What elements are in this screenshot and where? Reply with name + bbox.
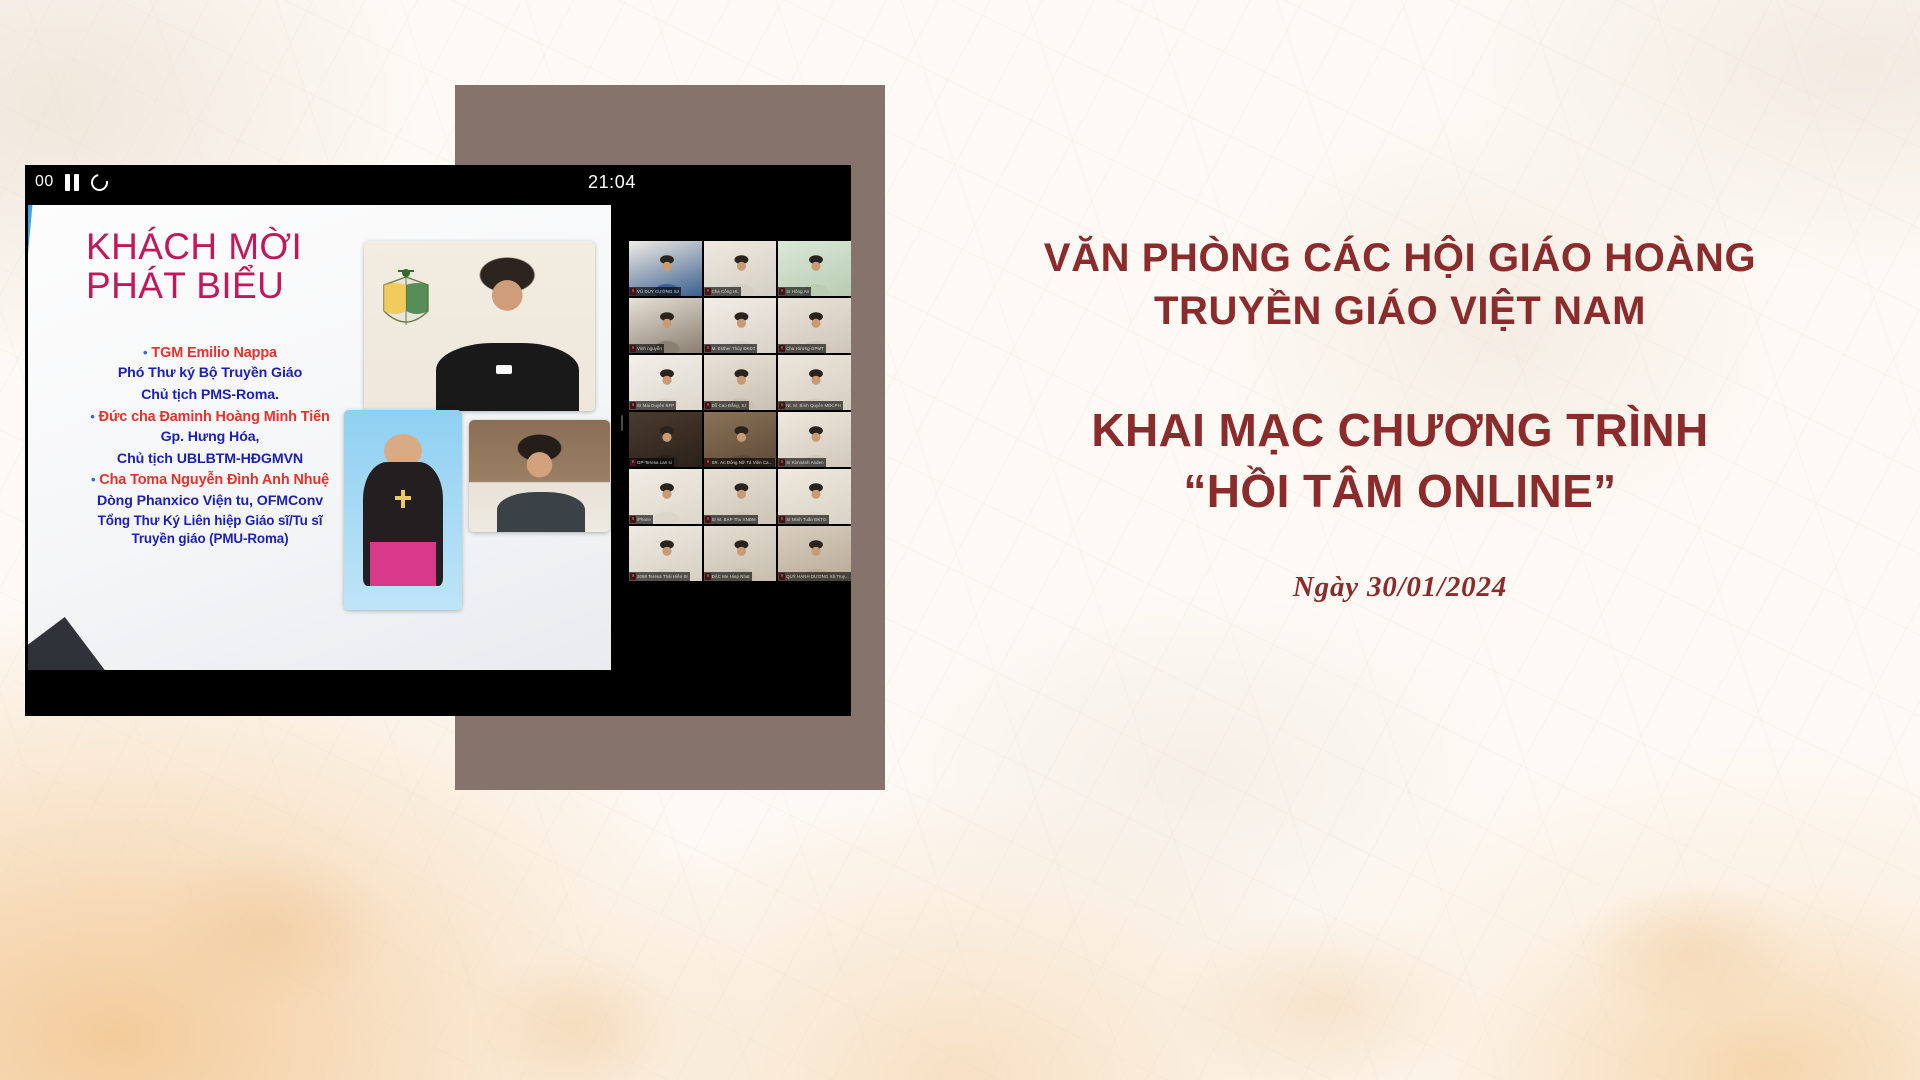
participant-row: GP-Teresa Lan siSR. An Đông Nữ Tá Viên C… — [629, 412, 851, 467]
participant-name-label: M. Esther Thủy ĐKĐT — [704, 344, 758, 353]
participant-row: VŨ DUY CƯỜNG SJCha Công HLSr Hồng An — [629, 241, 851, 296]
speaker-detail: Phó Thư ký Bộ Truyền Giáo — [66, 363, 354, 385]
participant-tile[interactable]: VŨ DUY CƯỜNG SJ — [629, 241, 702, 296]
speaker-name: • Đức cha Đaminh Hoàng Minh Tiến — [66, 407, 354, 427]
event-title-line2: “HỒI TÂM ONLINE” — [900, 461, 1900, 523]
slide-title-line1: KHÁCH MỜI — [86, 227, 346, 266]
participant-name-label: Vinh nguyễn — [629, 344, 664, 353]
speaker-detail: Truyền giáo (PMU-Roma) — [66, 530, 354, 548]
speaker-video-tile-secondary — [469, 420, 610, 532]
participant-tile[interactable]: Sr Minh Tuấn ĐKTG — [778, 469, 851, 524]
participant-tile[interactable]: ĐẶC Me Hiep Nhat — [704, 526, 777, 581]
participant-row: 2068 Teresa Thái Hiền SIĐẶC Me Hiep Nhat… — [629, 526, 851, 581]
slide-decoration-blue-stripe — [28, 205, 34, 670]
participant-tile[interactable]: Vinh nguyễn — [629, 298, 702, 353]
speaker-detail: Tổng Thư Ký Liên hiệp Giáo sĩ/Tu sĩ — [66, 512, 354, 530]
speaker-detail: Chủ tịch UBLBTM-HĐGMVN — [66, 449, 354, 471]
event-title: KHAI MẠC CHƯƠNG TRÌNH “HỒI TÂM ONLINE” — [900, 400, 1900, 523]
participant-name-label: Sr Mai Duyên SFP — [629, 401, 676, 410]
participant-name-label: ĐẶC Me Hiep Nhat — [704, 572, 752, 581]
speaker-vestment — [436, 343, 579, 411]
participant-tile[interactable]: 2068 Teresa Thái Hiền SI — [629, 526, 702, 581]
participant-tile[interactable]: SR. An Đông Nữ Tá Viên Ca... — [704, 412, 777, 467]
status-bar-left-group: 00 — [35, 173, 108, 191]
speaker-detail: Chủ tịch PMS-Roma. — [66, 385, 354, 407]
organization-heading-line2: TRUYỀN GIÁO VIỆT NAM — [900, 285, 1900, 338]
participant-tile[interactable]: Sr Hồng An — [778, 241, 851, 296]
right-text-panel: VĂN PHÒNG CÁC HỘI GIÁO HOÀNG TRUYỀN GIÁO… — [900, 232, 1900, 604]
presentation-slide: KHÁCH MỜI PHÁT BIỂU • TGM Emilio Nappa P… — [28, 205, 611, 670]
participant-name-label: Sr Minh Tuấn ĐKTG — [778, 515, 828, 524]
participant-name-label: Cha Hương GPMT — [778, 344, 826, 353]
participant-tile[interactable]: Nt. M. Bình Quyên MĐCPH — [778, 355, 851, 410]
participant-name-label: 2068 Teresa Thái Hiền SI — [629, 572, 690, 581]
speaker-detail: Dòng Phanxico Viện tu, OFMConv — [66, 491, 354, 513]
event-date: Ngày 30/01/2024 — [900, 571, 1900, 604]
participant-row: Vinh nguyễnM. Esther Thủy ĐKĐTCha Hương … — [629, 298, 851, 353]
pause-icon[interactable] — [65, 174, 80, 191]
bishop-photo-tile — [344, 410, 462, 610]
device-screenshot-panel: 00 21:04 KHÁCH MỜI PHÁT BIỂU • TGM Emili… — [25, 165, 851, 716]
slide-title: KHÁCH MỜI PHÁT BIỂU — [86, 227, 346, 305]
participant-tile[interactable]: GP-Teresa Lan si — [629, 412, 702, 467]
participant-tile[interactable]: Sr Mai Duyên SFP — [629, 355, 702, 410]
participant-tile[interactable]: Cha Công HL — [704, 241, 777, 296]
speaker-video-tile-main — [364, 241, 595, 411]
coat-of-arms-icon — [378, 265, 434, 339]
participant-name-label: iPhone — [629, 515, 653, 524]
clock-time: 21:04 — [588, 172, 636, 193]
slide-speaker-list: • TGM Emilio Nappa Phó Thư ký Bộ Truyền … — [66, 343, 354, 548]
participant-row: Sr Mai Duyên SFPĐỗ Cao Đẳng, SJNt. M. Bì… — [629, 355, 851, 410]
participant-row: iPhoneSr M. BAP Thu XNĐMSr Minh Tuấn ĐKT… — [629, 469, 851, 524]
participant-name-label: GP-Teresa Lan si — [629, 458, 674, 467]
participant-tile[interactable]: QUỸ HẠNH DƯƠNG Xã Truy... — [778, 526, 851, 581]
zoom-participant-grid[interactable]: VŨ DUY CƯỜNG SJCha Công HLSr Hồng AnVinh… — [629, 241, 851, 587]
participant-name-label: QUỸ HẠNH DƯƠNG Xã Truy... — [778, 572, 851, 581]
participant-tile[interactable]: Đỗ Cao Đẳng, SJ — [704, 355, 777, 410]
slide-title-line2: PHÁT BIỂU — [86, 266, 346, 305]
bishop-portrait — [344, 410, 462, 610]
participant-name-label: Nt. M. Bình Quyên MĐCPH — [778, 401, 843, 410]
device-status-bar: 00 21:04 — [25, 165, 851, 207]
speaker-detail: Gp. Hưng Hóa, — [66, 427, 354, 449]
participant-name-label: Sr Hồng An — [778, 287, 811, 296]
participant-tile[interactable]: Sr M. BAP Thu XNĐM — [704, 469, 777, 524]
event-title-line1: KHAI MẠC CHƯƠNG TRÌNH — [900, 400, 1900, 462]
organization-heading: VĂN PHÒNG CÁC HỘI GIÁO HOÀNG TRUYỀN GIÁO… — [900, 232, 1900, 338]
organization-heading-line1: VĂN PHÒNG CÁC HỘI GIÁO HOÀNG — [900, 232, 1900, 285]
participant-tile[interactable]: Sr Kimnanh Anden — [778, 412, 851, 467]
panel-resize-handle[interactable] — [621, 415, 623, 431]
participant-name-label: Sr M. BAP Thu XNĐM — [704, 515, 758, 524]
reload-icon[interactable] — [87, 170, 111, 194]
speaker-clothing — [497, 492, 584, 532]
participant-name-label: SR. An Đông Nữ Tá Viên Ca... — [704, 458, 775, 467]
clerical-collar — [496, 365, 512, 374]
participant-name-label: Cha Công HL — [704, 287, 741, 296]
participant-name-label: Đỗ Cao Đẳng, SJ — [704, 401, 749, 410]
participant-name-label: VŨ DUY CƯỜNG SJ — [629, 287, 681, 296]
participant-tile[interactable]: iPhone — [629, 469, 702, 524]
participant-tile[interactable]: Cha Hương GPMT — [778, 298, 851, 353]
participant-name-label: Sr Kimnanh Anden — [778, 458, 825, 467]
speaker-name: • Cha Toma Nguyễn Đình Anh Nhuệ — [66, 470, 354, 490]
speaker-name: • TGM Emilio Nappa — [66, 343, 354, 363]
participant-tile[interactable]: M. Esther Thủy ĐKĐT — [704, 298, 777, 353]
slide-decoration-dark-corner — [28, 617, 155, 670]
battery-text: 00 — [35, 173, 54, 191]
